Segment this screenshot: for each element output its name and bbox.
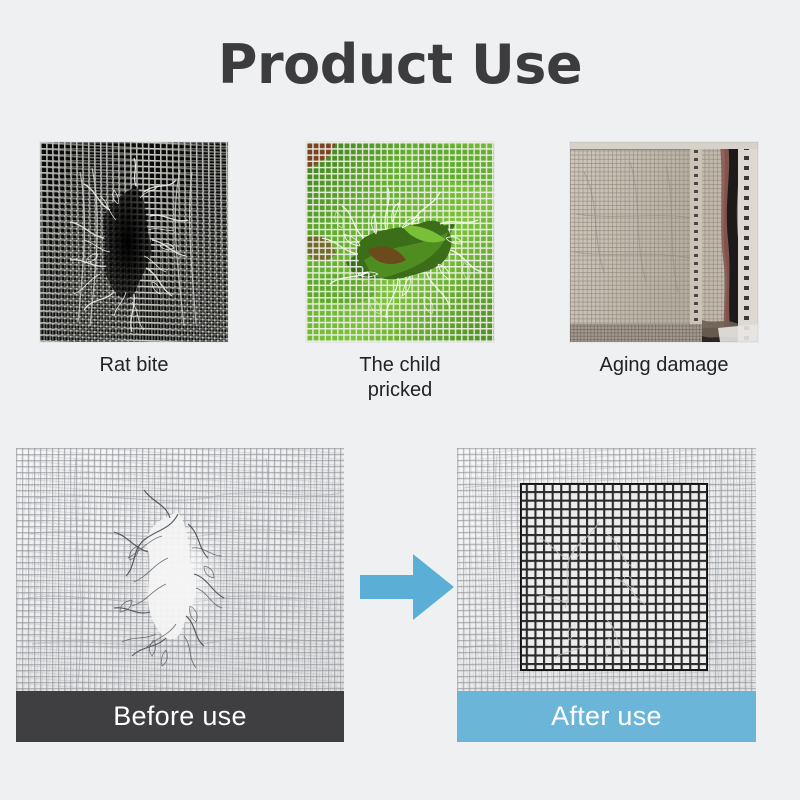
after-use-band: After use <box>457 691 756 742</box>
child-pricked-screen-photo <box>306 142 494 342</box>
caption-line-2: pricked <box>368 379 432 401</box>
damage-example-caption: Aging damage <box>570 353 758 378</box>
caption-line-1: Rat bite <box>100 354 169 376</box>
before-use-panel: Before use <box>16 448 344 742</box>
after-use-patched-mesh-photo <box>457 448 756 691</box>
infographic-page: Product Use <box>0 0 800 800</box>
damage-example-caption: The child pricked <box>306 353 494 403</box>
caption-line-1: Aging damage <box>600 354 729 376</box>
damage-example-card: The child pricked <box>306 142 494 403</box>
damage-example-card: Rat bite <box>40 142 228 378</box>
aging-damage-screen-photo <box>570 142 758 342</box>
before-use-band: Before use <box>16 691 344 742</box>
caption-line-1: The child <box>359 354 440 376</box>
damage-examples-row: Rat bite <box>0 142 800 404</box>
after-use-panel: After use <box>457 448 756 742</box>
damage-example-caption: Rat bite <box>40 353 228 378</box>
after-use-label: After use <box>551 701 662 732</box>
before-use-label: Before use <box>113 701 247 732</box>
page-title: Product Use <box>0 34 800 96</box>
rat-bite-torn-screen-photo <box>40 142 228 342</box>
damage-example-card: Aging damage <box>570 142 758 378</box>
before-use-torn-mesh-photo <box>16 448 344 691</box>
arrow-right-icon <box>358 548 456 626</box>
